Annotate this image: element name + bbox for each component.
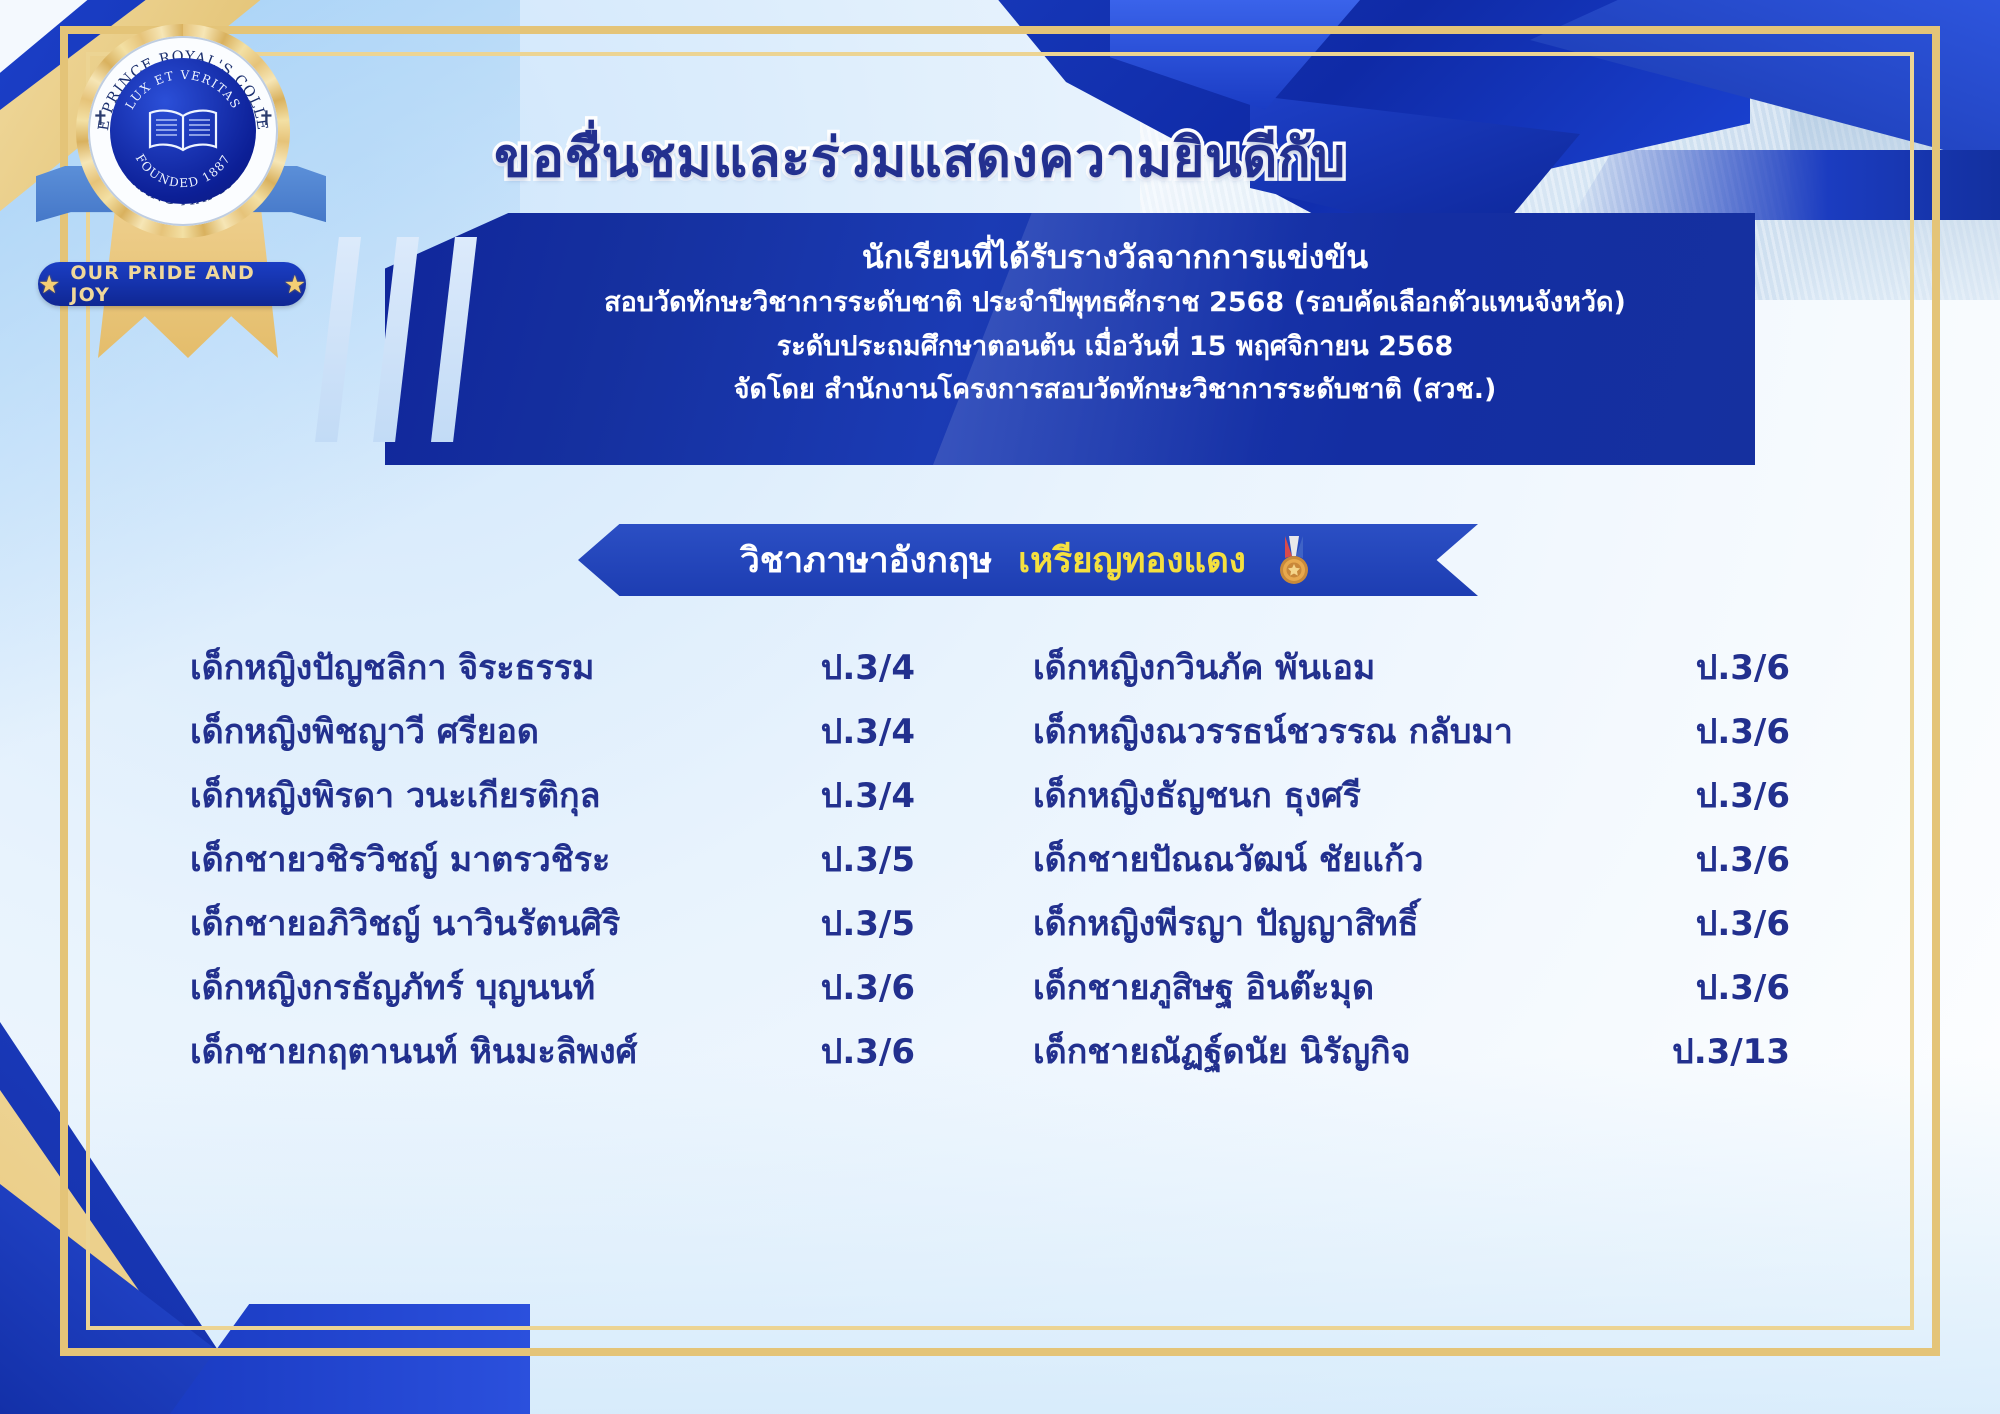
- awardee-column-right: เด็กหญิงกวินภัค พันเอม ป.3/6 เด็กหญิงณวร…: [1033, 640, 1830, 1088]
- header-text-block: นักเรียนที่ได้รับรางวัลจากการแข่งขัน สอบ…: [505, 233, 1725, 412]
- pride-and-joy-banner: ★ OUR PRIDE AND JOY ★: [38, 262, 306, 306]
- student-class: ป.3/6: [1696, 704, 1790, 758]
- list-item: เด็กชายอภิวิชญ์ นาวินรัตนศิริ ป.3/5: [190, 896, 987, 960]
- svg-text:LUX ET VERITAS: LUX ET VERITAS: [123, 68, 244, 112]
- congratulations-poster: THE PRINCE ROYAL'S COLLEGE CHIANG MAI 19…: [0, 0, 2000, 1414]
- cross-icon-left: ✝: [92, 106, 109, 130]
- student-class: ป.3/4: [821, 640, 915, 694]
- list-item: เด็กชายณัฏฐ์ดนัย นิรัญกิจ ป.3/13: [1033, 1024, 1830, 1088]
- seal-motto: LUX ET VERITAS: [123, 68, 244, 112]
- student-class: ป.3/6: [821, 960, 915, 1014]
- header-line-4: จัดโดย สำนักงานโครงการสอบวัดทักษะวิชาการ…: [505, 368, 1725, 412]
- student-class: ป.3/13: [1672, 1024, 1790, 1078]
- pride-and-joy-label: OUR PRIDE AND JOY: [70, 262, 273, 306]
- student-class: ป.3/6: [1696, 768, 1790, 822]
- list-item: เด็กหญิงณวรรธน์ชวรรณ กลับมา ป.3/6: [1033, 704, 1830, 768]
- student-name: เด็กหญิงกวินภัค พันเอม: [1033, 640, 1375, 694]
- student-class: ป.3/6: [1696, 640, 1790, 694]
- student-name: เด็กชายภูสิษฐ อินต๊ะมุด: [1033, 960, 1374, 1014]
- student-name: เด็กหญิงพีรญา ปัญญาสิทธิ์: [1033, 896, 1418, 950]
- student-class: ป.3/6: [1696, 896, 1790, 950]
- header-line-1: นักเรียนที่ได้รับรางวัลจากการแข่งขัน: [505, 233, 1725, 281]
- list-item: เด็กหญิงพีรญา ปัญญาสิทธิ์ ป.3/6: [1033, 896, 1830, 960]
- student-class: ป.3/6: [1696, 960, 1790, 1014]
- subject-label: วิชาภาษาอังกฤษ: [740, 533, 992, 588]
- student-class: ป.3/5: [821, 832, 915, 886]
- list-item: เด็กหญิงปัญชลิกา จิระธรรม ป.3/4: [190, 640, 987, 704]
- cross-icon-right: ✝: [258, 106, 275, 130]
- student-name: เด็กหญิงปัญชลิกา จิระธรรม: [190, 640, 594, 694]
- svg-text:FOUNDED 1887: FOUNDED 1887: [133, 152, 234, 190]
- bronze-medal-icon: [1272, 534, 1316, 586]
- header-line-2: สอบวัดทักษะวิชาการระดับชาติ ประจำปีพุทธศ…: [505, 281, 1725, 325]
- student-class: ป.3/4: [821, 768, 915, 822]
- seal-founded: FOUNDED 1887: [133, 152, 234, 190]
- star-icon-left: ★: [38, 272, 60, 297]
- student-name: เด็กหญิงณวรรธน์ชวรรณ กลับมา: [1033, 704, 1513, 758]
- list-item: เด็กหญิงพิชญาวี ศรียอด ป.3/4: [190, 704, 987, 768]
- award-label: เหรียญทองแดง: [1018, 533, 1246, 588]
- list-item: เด็กชายปัณณวัฒน์ ชัยแก้ว ป.3/6: [1033, 832, 1830, 896]
- student-name: เด็กหญิงพิชญาวี ศรียอด: [190, 704, 539, 758]
- student-name: เด็กชายวชิรวิชญ์ มาตรวชิระ: [190, 832, 610, 886]
- page-title: ขอชื่นชมและร่วมแสดงความยินดีกับ: [390, 128, 1450, 188]
- awardee-column-left: เด็กหญิงปัญชลิกา จิระธรรม ป.3/4 เด็กหญิง…: [190, 640, 987, 1088]
- student-class: ป.3/6: [1696, 832, 1790, 886]
- student-class: ป.3/6: [821, 1024, 915, 1078]
- list-item: เด็กหญิงกรธัญภัทร์ บุญนนท์ ป.3/6: [190, 960, 987, 1024]
- student-name: เด็กหญิงพิรดา วนะเกียรติกุล: [190, 768, 600, 822]
- student-name: เด็กหญิงกรธัญภัทร์ บุญนนท์: [190, 960, 595, 1014]
- list-item: เด็กหญิงธัญชนก ธุงศรี ป.3/6: [1033, 768, 1830, 832]
- awardee-list: เด็กหญิงปัญชลิกา จิระธรรม ป.3/4 เด็กหญิง…: [190, 640, 1830, 1088]
- list-item: เด็กชายภูสิษฐ อินต๊ะมุด ป.3/6: [1033, 960, 1830, 1024]
- list-item: เด็กชายวชิรวิชญ์ มาตรวชิระ ป.3/5: [190, 832, 987, 896]
- star-icon-right: ★: [284, 272, 306, 297]
- list-item: เด็กชายกฤตานนท์ หินมะลิพงศ์ ป.3/6: [190, 1024, 987, 1088]
- student-class: ป.3/4: [821, 704, 915, 758]
- student-name: เด็กชายปัณณวัฒน์ ชัยแก้ว: [1033, 832, 1424, 886]
- header-line-3: ระดับประถมศึกษาตอนต้น เมื่อวันที่ 15 พฤศ…: [505, 325, 1725, 369]
- student-name: เด็กชายกฤตานนท์ หินมะลิพงศ์: [190, 1024, 637, 1078]
- student-name: เด็กชายอภิวิชญ์ นาวินรัตนศิริ: [190, 896, 620, 950]
- student-name: เด็กชายณัฏฐ์ดนัย นิรัญกิจ: [1033, 1024, 1411, 1078]
- student-name: เด็กหญิงธัญชนก ธุงศรี: [1033, 768, 1361, 822]
- open-book-icon: [146, 107, 220, 155]
- seal-inner-disc: LUX ET VERITAS FOUNDED 1887: [110, 58, 256, 204]
- subject-award-banner: วิชาภาษาอังกฤษ เหรียญทองแดง: [578, 524, 1478, 596]
- list-item: เด็กหญิงพิรดา วนะเกียรติกุล ป.3/4: [190, 768, 987, 832]
- header-banner: นักเรียนที่ได้รับรางวัลจากการแข่งขัน สอบ…: [385, 213, 1755, 465]
- list-item: เด็กหญิงกวินภัค พันเอม ป.3/6: [1033, 640, 1830, 704]
- student-class: ป.3/5: [821, 896, 915, 950]
